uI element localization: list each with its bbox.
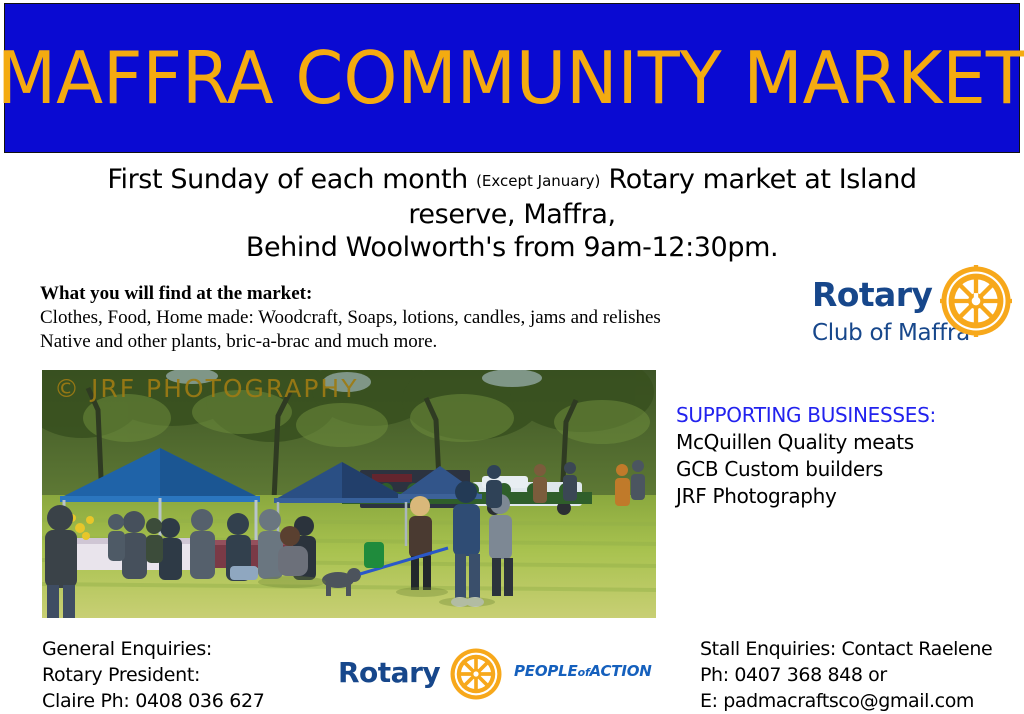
market-offerings-line-2: Native and other plants, bric-a-brac and… <box>40 330 780 354</box>
supporting-business-item-1: McQuillen Quality meats <box>676 429 1016 456</box>
supporting-businesses: SUPPORTING BUSINESSES: McQuillen Quality… <box>676 402 1016 510</box>
supporting-business-item-2: GCB Custom builders <box>676 456 1016 483</box>
poster-banner: MAFFRA COMMUNITY MARKET <box>4 3 1020 153</box>
rotary-wheel-icon-bottom <box>450 648 502 700</box>
market-photo: © JRF PHOTOGRAPHY <box>42 370 656 618</box>
rotary-wheel-icon <box>940 265 1012 337</box>
except-january-note: (Except January) <box>476 172 600 190</box>
poa-tag-of: of <box>578 666 590 679</box>
rotary-club-of-maffra-logo: Rotary Club of Maffra <box>812 265 1012 363</box>
poa-tag-action: ACTION <box>590 662 652 680</box>
general-enquiries-label: General Enquiries: <box>42 636 265 662</box>
event-details-line-1-b: Rotary market at Island <box>600 164 916 195</box>
photo-watermark: © JRF PHOTOGRAPHY <box>54 374 359 403</box>
poa-tag-people: PEOPLE <box>514 662 578 680</box>
market-offerings-heading: What you will find at the market: <box>40 282 780 306</box>
market-offerings: What you will find at the market: Clothe… <box>40 282 780 354</box>
event-details-line-1: First Sunday of each month (Except Janua… <box>60 163 964 198</box>
supporting-businesses-heading: SUPPORTING BUSINESSES: <box>676 402 1016 429</box>
event-details: First Sunday of each month (Except Janua… <box>60 163 964 264</box>
president-phone: Claire Ph: 0408 036 627 <box>42 688 265 714</box>
event-details-line-2: reserve, Maffra, <box>60 198 964 231</box>
rotary-wordmark: Rotary <box>812 275 932 314</box>
event-details-line-1-a: First Sunday of each month <box>107 164 476 195</box>
rotary-people-of-action-logo: Rotary PEOPL <box>338 648 650 700</box>
rotary-president-label: Rotary President: <box>42 662 265 688</box>
stall-enquiries-label: Stall Enquiries: Contact Raelene <box>700 636 992 662</box>
market-poster: MAFFRA COMMUNITY MARKET First Sunday of … <box>0 0 1024 713</box>
supporting-business-item-3: JRF Photography <box>676 483 1016 510</box>
stall-email[interactable]: E: padmacraftsco@gmail.com <box>700 688 992 714</box>
stall-enquiries: Stall Enquiries: Contact Raelene Ph: 040… <box>700 636 992 714</box>
rotary-wordmark-bottom: Rotary <box>338 656 440 689</box>
poster-title: MAFFRA COMMUNITY MARKET <box>0 42 1024 114</box>
market-offerings-line-1: Clothes, Food, Home made: Woodcraft, Soa… <box>40 306 780 330</box>
people-of-action-tagline: PEOPLEofACTION <box>514 662 652 680</box>
stall-phone: Ph: 0407 368 848 or <box>700 662 992 688</box>
general-enquiries: General Enquiries: Rotary President: Cla… <box>42 636 265 714</box>
event-details-line-3: Behind Woolworth's from 9am-12:30pm. <box>60 231 964 264</box>
